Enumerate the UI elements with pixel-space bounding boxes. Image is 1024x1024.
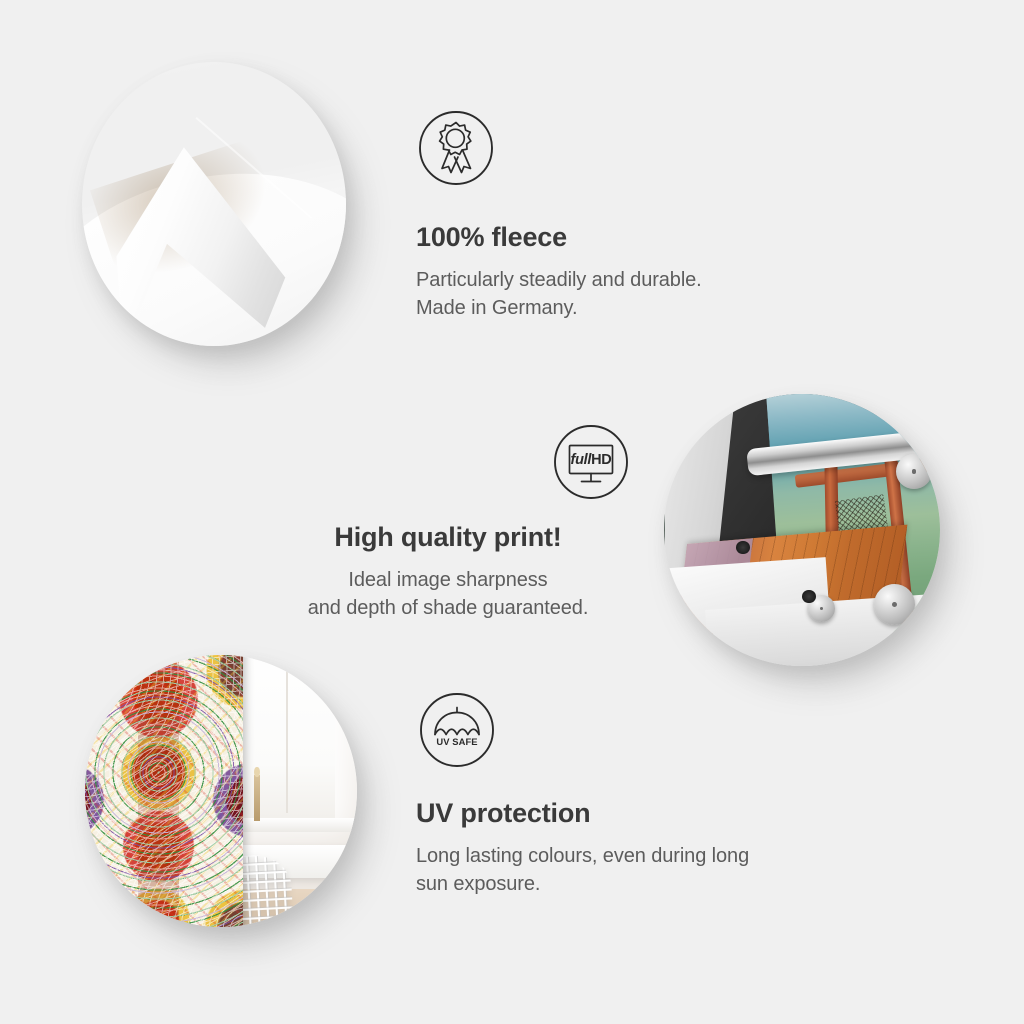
printer-knob: [896, 454, 932, 489]
candle-top: [254, 767, 259, 778]
photo-content: [85, 655, 357, 927]
candle-holder: [254, 775, 261, 821]
photo-content: [82, 62, 346, 346]
feature-description: Particularly steadily and durable. Made …: [416, 266, 702, 323]
description-line: Ideal image sharpness: [262, 566, 634, 594]
description-line: Made in Germany.: [416, 294, 702, 322]
fleece-sheet-peeled-corner-photo: [82, 62, 346, 346]
description-line: Particularly steadily and durable.: [416, 266, 702, 294]
large-format-printer-photo: [664, 394, 940, 666]
mandala-dots-layer: [85, 655, 243, 927]
printer-screw: [736, 541, 750, 555]
feature-description: Long lasting colours, even during long s…: [416, 842, 749, 899]
feature-title: High quality print!: [262, 522, 634, 553]
description-line: sun exposure.: [416, 870, 749, 898]
svg-text:fullHD: fullHD: [571, 452, 612, 468]
photo-content: [664, 394, 940, 666]
uv-safe-label: UV SAFE: [436, 736, 477, 747]
feature-text-fleece: 100% fleece Particularly steadily and du…: [416, 222, 702, 323]
feature-description: Ideal image sharpness and depth of shade…: [262, 566, 634, 623]
feature-text-uv: UV protection Long lasting colours, even…: [416, 798, 749, 899]
fullhd-monitor-icon: fullHD: [553, 424, 629, 500]
mandala-mural-interior-photo: [85, 655, 357, 927]
printer-left-shade: [664, 448, 665, 566]
printer-knob: [874, 584, 915, 625]
feature-infographic: 100% fleece Particularly steadily and du…: [0, 0, 1024, 1024]
feature-title: UV protection: [416, 798, 749, 829]
description-line: Long lasting colours, even during long: [416, 842, 749, 870]
award-ribbon-icon: [418, 110, 494, 186]
description-line: and depth of shade guaranteed.: [262, 594, 634, 622]
printer-screw: [802, 590, 816, 604]
mandala-mural-panel: [85, 655, 243, 927]
feature-title: 100% fleece: [416, 222, 702, 253]
uv-safe-umbrella-icon: UV SAFE: [419, 692, 495, 768]
feature-text-print: High quality print! Ideal image sharpnes…: [262, 522, 634, 623]
window-frame: [286, 660, 288, 812]
